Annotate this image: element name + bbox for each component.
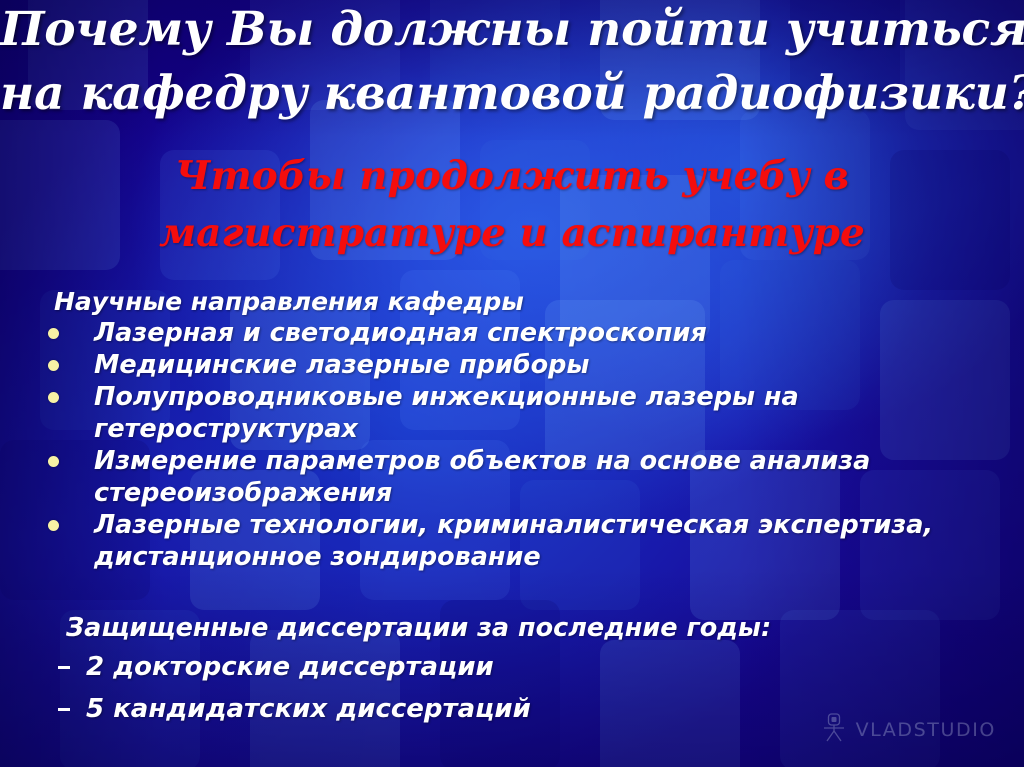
title-line-1: Почему Вы должны пойти учиться: [0, 0, 1024, 62]
list-item-label: Полупроводниковые инжекционные лазеры на…: [94, 382, 799, 444]
bullet-dot-icon: [48, 328, 59, 339]
subtitle-line-1: Чтобы продолжить учебу в: [0, 148, 1024, 205]
list-item-label: Лазерные технологии, криминалистическая …: [94, 510, 933, 572]
list-item-label: Медицинские лазерные приборы: [94, 350, 589, 380]
bullet-dot-icon: [48, 360, 59, 371]
list-item-label: 5 кандидатских диссертаций: [86, 694, 531, 724]
list-item-label: Измерение параметров объектов на основе …: [94, 446, 870, 508]
watermark: VLADSTUDIO: [821, 712, 996, 747]
list-item: Лазерная и светодиодная спектроскопия: [0, 317, 1024, 349]
slide-subtitle: Чтобы продолжить учебу в магистратуре и …: [0, 148, 1024, 262]
dissertations-heading: Защищенные диссертации за последние годы…: [66, 610, 1024, 646]
watermark-label: VLADSTUDIO: [856, 719, 996, 741]
dash-marker-icon: [58, 708, 70, 711]
presentation-slide: Почему Вы должны пойти учиться на кафедр…: [0, 0, 1024, 767]
list-item: Медицинские лазерные приборы: [0, 349, 1024, 381]
list-item-label: Лазерная и светодиодная спектроскопия: [94, 318, 707, 348]
list-item-label: 2 докторские диссертации: [86, 652, 494, 682]
bullet-dot-icon: [48, 456, 59, 467]
list-item: Полупроводниковые инжекционные лазеры на…: [0, 381, 1024, 445]
slide-content: Почему Вы должны пойти учиться на кафедр…: [0, 0, 1024, 767]
subtitle-line-2: магистратуре и аспирантуре: [0, 205, 1024, 262]
list-item: 2 докторские диссертации: [0, 646, 1024, 688]
bullet-dot-icon: [48, 392, 59, 403]
section-heading: Научные направления кафедры: [54, 286, 1024, 317]
dash-marker-icon: [58, 666, 70, 669]
bullet-dot-icon: [48, 520, 59, 531]
slide-title: Почему Вы должны пойти учиться на кафедр…: [0, 0, 1024, 126]
research-directions-block: Научные направления кафедры Лазерная и с…: [0, 286, 1024, 573]
research-directions-list: Лазерная и светодиодная спектроскопия Ме…: [0, 317, 1024, 573]
person-figure-icon: [821, 712, 847, 747]
list-item: Лазерные технологии, криминалистическая …: [0, 509, 1024, 573]
title-line-2: на кафедру квантовой радиофизики?: [0, 62, 1024, 126]
list-item: Измерение параметров объектов на основе …: [0, 445, 1024, 509]
